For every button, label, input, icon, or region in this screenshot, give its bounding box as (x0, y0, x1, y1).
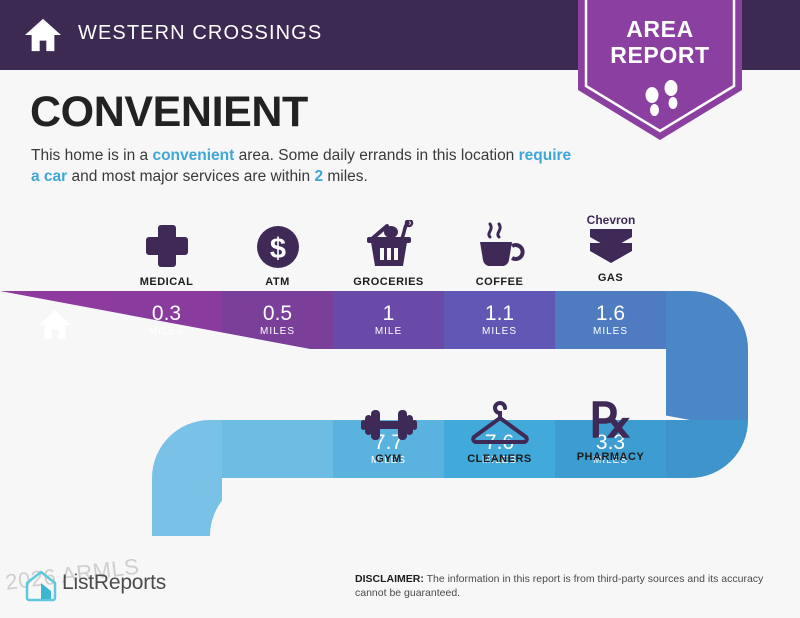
chevron-gas-icon: Chevron (582, 212, 640, 266)
brand-logo: ListReports (18, 565, 218, 605)
disclaimer-label: DISCLAIMER: (355, 573, 424, 585)
icon-label: ATM (222, 276, 333, 288)
subtitle-part-4: miles. (323, 168, 368, 185)
svg-text:$: $ (269, 233, 285, 265)
icon-label: GYM (333, 453, 444, 465)
segment-groceries (333, 291, 444, 349)
icon-cell-medical: MEDICAL (111, 214, 222, 288)
subtitle-highlight-convenient: convenient (152, 147, 234, 164)
house-icon (24, 17, 62, 53)
dumbbell-icon (359, 403, 419, 447)
icon-label: GAS (555, 272, 666, 284)
icon-cell-atm: $ ATM (222, 214, 333, 288)
page-subtitle: This home is in a convenient area. Some … (31, 145, 576, 187)
page-title: CONVENIENT (30, 88, 308, 137)
icon-label: MEDICAL (111, 276, 222, 288)
badge-line-1: AREA (570, 16, 750, 42)
rx-icon: ℞ (585, 395, 637, 445)
icon-label: GROCERIES (333, 276, 444, 288)
footprints-icon (642, 79, 682, 121)
icon-label: PHARMACY (555, 451, 666, 463)
grocery-basket-icon (361, 220, 417, 270)
segment-coffee (444, 291, 555, 349)
area-report-badge: AREA REPORT (570, 0, 750, 146)
clothes-hanger-icon (469, 401, 531, 447)
segment-medical (111, 291, 222, 349)
subtitle-highlight-miles: 2 (314, 168, 323, 185)
icon-label: COFFEE (444, 276, 555, 288)
segment-gas (555, 291, 666, 349)
coffee-cup-icon (472, 220, 528, 270)
icon-cell-groceries: GROCERIES (333, 214, 444, 288)
icon-cell-gas: Chevron GAS (555, 210, 666, 284)
house-logo-icon (24, 569, 58, 603)
community-title: WESTERN CROSSINGS (78, 22, 322, 45)
medical-cross-icon (143, 222, 191, 270)
subtitle-part-3: and most major services are within (67, 168, 314, 185)
icon-cell-cleaners: CLEANERS (444, 391, 555, 465)
segment-atm (222, 291, 333, 349)
badge-label: AREA REPORT (570, 16, 750, 68)
gas-brand-text: Chevron (586, 213, 635, 227)
brand-name: ListReports (62, 571, 166, 595)
svg-text:℞: ℞ (589, 395, 632, 445)
icon-cell-gym: GYM (333, 391, 444, 465)
icon-cell-coffee: COFFEE (444, 214, 555, 288)
disclaimer: DISCLAIMER: The information in this repo… (355, 572, 775, 600)
icon-label: CLEANERS (444, 453, 555, 465)
subtitle-part-2: area. Some daily errands in this locatio… (234, 147, 518, 164)
house-icon (38, 309, 72, 341)
icon-cell-pharmacy: ℞ PHARMACY (555, 389, 666, 463)
subtitle-part-1: This home is in a (31, 147, 152, 164)
dollar-coin-icon: $ (254, 222, 302, 270)
badge-line-2: REPORT (570, 42, 750, 68)
